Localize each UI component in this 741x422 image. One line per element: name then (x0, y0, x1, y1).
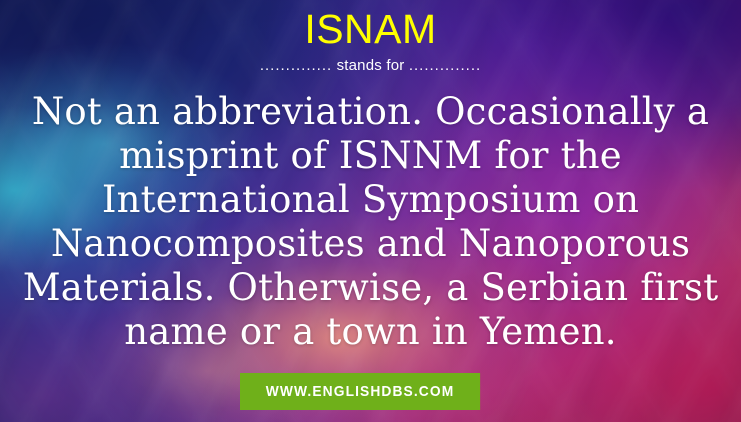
abbreviation-title: ISNAM (304, 8, 436, 51)
card-content: ISNAM .............. stands for ........… (0, 0, 741, 422)
definition-text: Not an abbreviation. Occasionally a misp… (21, 90, 721, 354)
stands-for-dots-left: .............. (260, 57, 332, 74)
stands-for-line: .............. stands for .............. (260, 57, 481, 74)
stands-for-dots-right: .............. (409, 57, 481, 74)
abbreviation-card: ISNAM .............. stands for ........… (0, 0, 741, 422)
stands-for-label: stands for (337, 57, 405, 74)
